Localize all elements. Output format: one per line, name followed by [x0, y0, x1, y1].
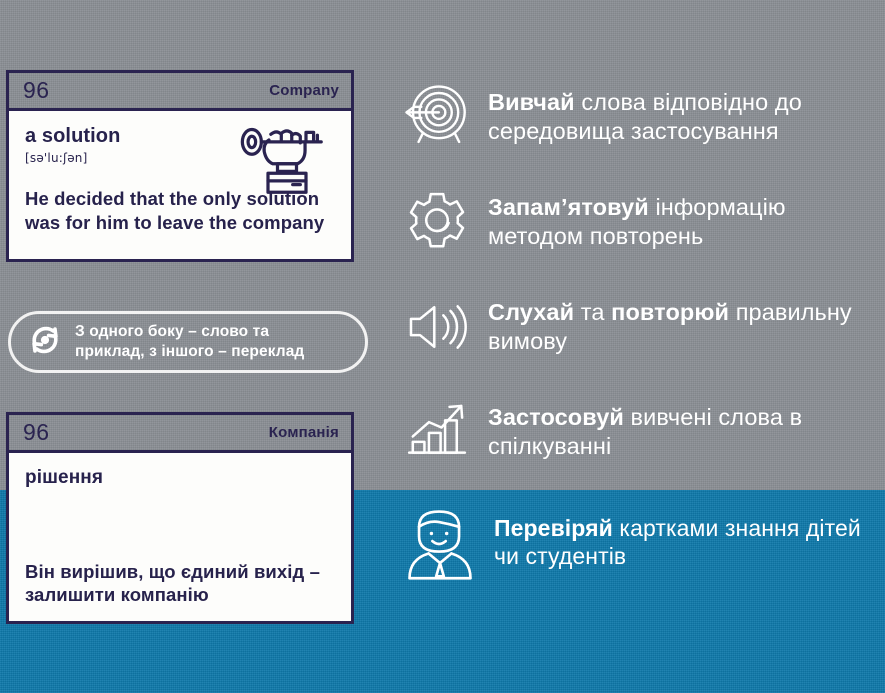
flashcard-english[interactable]: 96 Company a solution [sə'lu:ʃən] He dec… — [6, 70, 354, 262]
feature-text-listen-and-repeat: Слухай та повторюй правильну вимову — [488, 298, 885, 354]
feature-item-listen-and-repeat: Слухай та повторюй правильну вимову — [398, 274, 885, 379]
flashcard-english-header: 96 Company — [9, 73, 351, 111]
feature-item-apply-in-speech: Застосовуй вивчені слова в спілкуванні — [398, 379, 885, 484]
flip-instruction-line1: З одного боку – слово та — [75, 323, 269, 340]
flashcard-ukrainian-topic: Компанія — [269, 424, 339, 441]
feature-mid-3: та — [574, 299, 611, 325]
feature-bold-5: Перевіряй — [494, 515, 613, 541]
flashcard-ukrainian-number: 96 — [23, 421, 50, 444]
feature-item-memorize-by-repetition: Запам’ятовуй інформацію методом повторен… — [398, 169, 885, 274]
feature-bold2-3: повторюй — [611, 299, 729, 325]
flip-instruction-pill: З одного боку – слово та приклад, з іншо… — [8, 311, 368, 373]
gear-icon — [398, 183, 476, 261]
flip-refresh-icon — [25, 320, 65, 365]
feature-bold-4: Застосовуй — [488, 404, 624, 430]
feature-text-test-students: Перевіряй картками знання дітей чи студе… — [494, 515, 885, 570]
target-arrow-icon — [398, 78, 476, 156]
flashcard-ukrainian-header: 96 Компанія — [9, 415, 351, 453]
feature-item-test-students: Перевіряй картками знання дітей чи студе… — [398, 484, 885, 602]
feature-text-memorize-by-repetition: Запам’ятовуй інформацію методом повторен… — [488, 193, 885, 249]
flashcard-ukrainian-word: рішення — [25, 467, 335, 489]
bar-chart-growth-icon — [398, 393, 476, 471]
hand-holding-key-icon — [239, 121, 335, 197]
feature-bold-1: Вивчай — [488, 89, 575, 115]
flashcard-ukrainian-body: рішення Він вирішив, що єдиний вихід – з… — [9, 453, 351, 621]
flashcard-ukrainian-sentence: Він вирішив, що єдиний вихід – залишити … — [25, 560, 341, 607]
flip-instruction-text: З одного боку – слово та приклад, з іншо… — [75, 322, 304, 362]
flashcard-ukrainian[interactable]: 96 Компанія рішення Він вирішив, що єдин… — [6, 412, 354, 624]
flashcard-english-number: 96 — [23, 79, 50, 102]
flashcard-english-body: a solution [sə'lu:ʃən] He decided that t… — [9, 111, 351, 259]
feature-text-apply-in-speech: Застосовуй вивчені слова в спілкуванні — [488, 403, 885, 459]
teacher-person-icon — [398, 500, 482, 586]
speaker-sound-icon — [398, 288, 476, 366]
flashcard-english-topic: Company — [269, 82, 339, 99]
feature-list: Вивчай слова відповідно до середовища за… — [398, 64, 885, 602]
feature-text-study-in-context: Вивчай слова відповідно до середовища за… — [488, 88, 885, 144]
feature-bold-2: Запам’ятовуй — [488, 194, 649, 220]
feature-bold-3: Слухай — [488, 299, 574, 325]
flip-instruction-line2: приклад, з іншого – переклад — [75, 343, 304, 360]
feature-item-study-in-context: Вивчай слова відповідно до середовища за… — [398, 64, 885, 169]
